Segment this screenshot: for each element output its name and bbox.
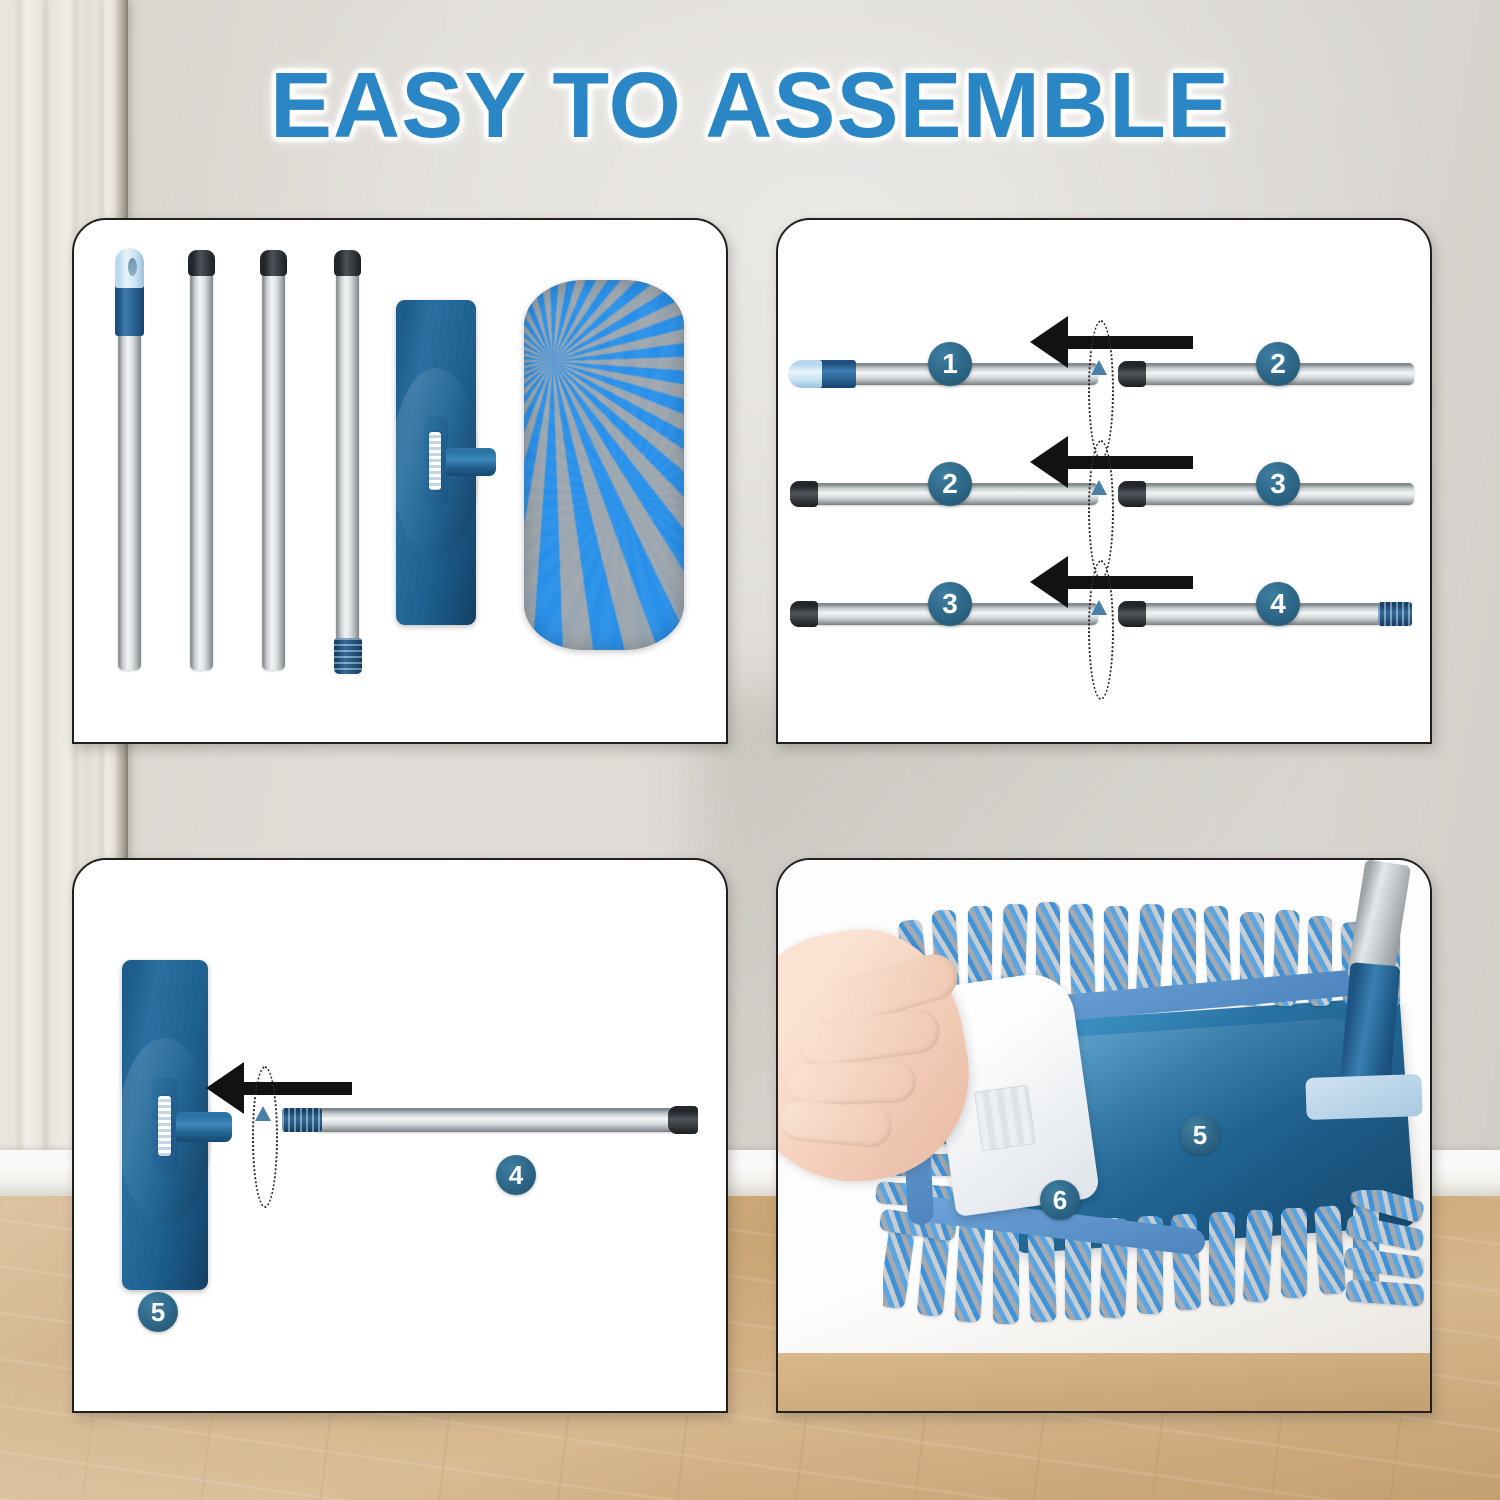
row-1-twist-ellipse [1088, 320, 1114, 460]
part-3-pole-body [262, 268, 285, 670]
photo-floor [778, 1353, 1430, 1411]
head-twist-marker [255, 1106, 271, 1121]
head-pole-end-cap [668, 1106, 698, 1134]
badge-row-2-right: 3 [1256, 462, 1300, 506]
row-3-twist-ellipse [1088, 560, 1114, 700]
row-3-left-end-cap [790, 601, 818, 627]
panel-pad-attachment: 5 6 [776, 858, 1432, 1413]
part-4-pole-body [336, 268, 359, 642]
part-3-end-cap [260, 250, 287, 276]
row-2-arrow-head [1030, 436, 1068, 488]
badge-row-1-left: 1 [928, 342, 972, 386]
row-2-arrow-shaft [1068, 456, 1193, 469]
head-ratchet-strip [158, 1096, 171, 1156]
badge-head-plate: 5 [138, 1292, 178, 1332]
part-4-threaded-tip [334, 638, 362, 674]
head-pole-body [314, 1108, 684, 1132]
row-1-arrow-head [1030, 316, 1068, 368]
finger-ring [787, 1060, 916, 1106]
part-1-hang-hole [128, 258, 137, 276]
mop-fringe-right [1344, 1190, 1430, 1320]
page-title: EASY TO ASSEMBLE [0, 52, 1500, 159]
velcro-patch [974, 1085, 1036, 1152]
part-6-pad-shading [524, 280, 684, 650]
panel-pole-assembly: 1 2 2 3 3 4 [776, 218, 1432, 744]
panel-parts-overview: 1 2 3 4 5 6 [72, 218, 728, 744]
row-3-threaded-tip [1378, 602, 1412, 626]
infographic-canvas: EASY TO ASSEMBLE 1 2 3 4 5 6 [0, 0, 1500, 1500]
row-2-twist-ellipse [1088, 440, 1114, 580]
part-4-end-cap [334, 250, 361, 276]
photo-yoke [1305, 1074, 1422, 1120]
row-3-right-end-cap [1118, 601, 1146, 627]
badge-row-3-left: 3 [928, 582, 972, 626]
row-2-right-end-cap [1118, 481, 1146, 507]
row-1-cap [788, 360, 822, 388]
row-1-arrow-shaft [1068, 336, 1193, 349]
row-1-right-end-cap [1118, 361, 1146, 387]
row-2-twist-marker [1091, 480, 1107, 495]
head-socket [176, 1112, 232, 1142]
part-2-end-cap [188, 250, 215, 276]
row-3-arrow-head [1030, 556, 1068, 608]
part-5-socket [446, 448, 496, 476]
badge-row-1-right: 2 [1256, 342, 1300, 386]
part-1-grip [115, 280, 144, 336]
badge-head-pole: 4 [496, 1155, 536, 1195]
badge-pad-frame: 5 [1180, 1115, 1220, 1155]
row-1-twist-marker [1091, 360, 1107, 375]
badge-pad-cover: 6 [1040, 1180, 1080, 1220]
badge-row-2-left: 2 [928, 462, 972, 506]
part-2-pole-body [190, 268, 213, 670]
head-pole-thread [282, 1108, 322, 1132]
panel-head-attachment: 5 4 [72, 858, 728, 1413]
head-twist-ellipse [252, 1066, 278, 1208]
part-1-pole-body [118, 312, 141, 670]
row-3-twist-marker [1091, 600, 1107, 615]
part-5-ratchet-strip [429, 432, 441, 490]
head-arrow-head [206, 1062, 244, 1114]
badge-row-3-right: 4 [1256, 582, 1300, 626]
row-3-arrow-shaft [1068, 576, 1193, 589]
row-2-left-end-cap [790, 481, 818, 507]
